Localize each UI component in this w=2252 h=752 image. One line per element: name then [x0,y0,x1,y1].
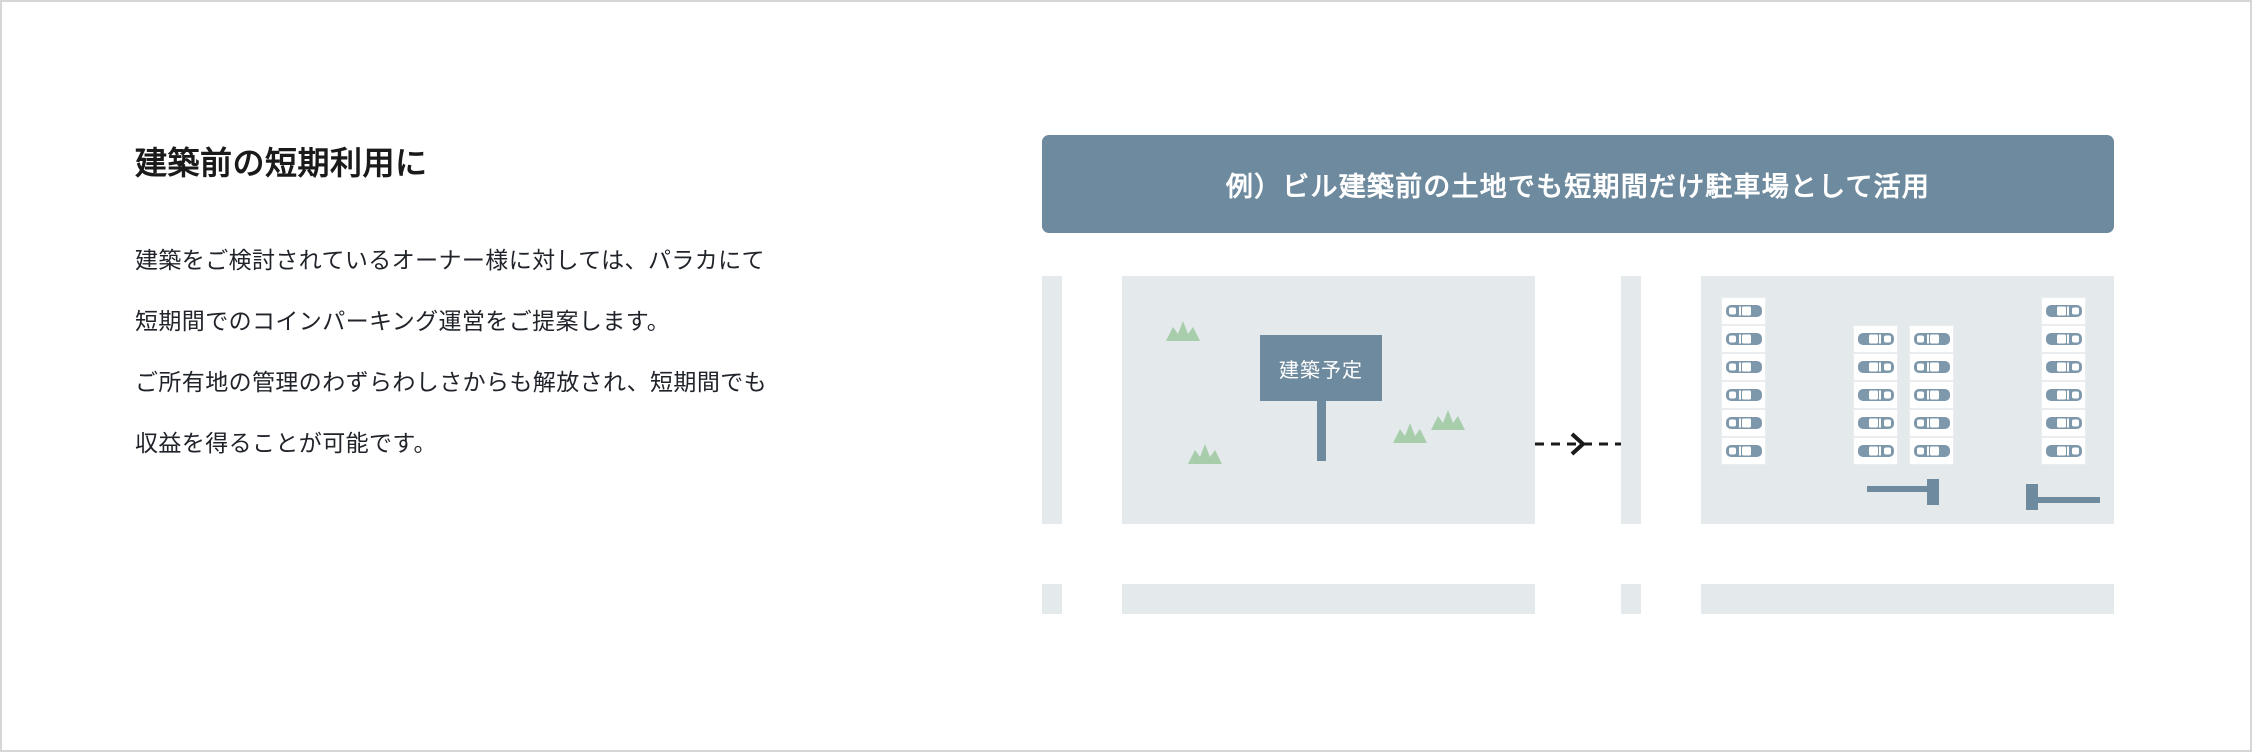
vacant-plot: 建築予定 [1122,276,1535,524]
stall-column [1909,325,1954,465]
page-title: 建築前の短期利用に [135,144,975,182]
parking-lot-plot [1701,276,2114,524]
parking-stall[interactable] [2041,353,2086,381]
gate-arm [2038,497,2100,503]
car-top-view-icon [1857,357,1895,377]
paragraph-line: 建築をご検討されているオーナー様に対しては、パラカにて [135,230,975,291]
car-top-view-icon [1857,441,1895,461]
parking-stall[interactable] [1853,381,1898,409]
parking-stall[interactable] [1721,325,1766,353]
gate-barrier-icon [1867,479,1947,505]
car-top-view-icon [1913,413,1951,433]
parking-stall[interactable] [1853,325,1898,353]
car-top-view-icon [1857,413,1895,433]
car-top-view-icon [1857,385,1895,405]
parking-stall[interactable] [1909,381,1954,409]
gate-post [1927,479,1939,505]
signboard-label: 建築予定 [1279,354,1363,383]
gate-post [2026,484,2038,510]
parking-stall[interactable] [1721,353,1766,381]
car-top-view-icon [1725,357,1763,377]
scene-after-parking-lot [1621,276,2114,614]
car-top-view-icon [2045,301,2083,321]
parking-stall[interactable] [2041,381,2086,409]
parking-stall[interactable] [1721,381,1766,409]
car-top-view-icon [1725,385,1763,405]
road-horizontal [1042,524,1535,584]
car-top-view-icon [1857,329,1895,349]
parking-stall[interactable] [1909,325,1954,353]
stall-column [1721,297,1766,465]
car-top-view-icon [1913,385,1951,405]
dashed-arrow-right-icon [1535,431,1621,457]
parking-stall[interactable] [1721,437,1766,465]
car-top-view-icon [1725,441,1763,461]
car-top-view-icon [2045,413,2083,433]
parking-stall[interactable] [1853,353,1898,381]
car-top-view-icon [1913,441,1951,461]
shrub-icon [1391,422,1429,444]
parking-stall[interactable] [2041,325,2086,353]
car-top-view-icon [1725,301,1763,321]
stall-column [1853,325,1898,465]
text-column: 建築前の短期利用に 建築をご検討されているオーナー様に対しては、パラカにて 短期… [135,144,975,474]
paragraph-line: ご所有地の管理のわずらわしさからも解放され、短期間でも [135,352,975,413]
parking-stall[interactable] [1721,297,1766,325]
signboard-icon: 建築予定 [1260,335,1382,401]
shrub-icon [1186,443,1224,465]
example-banner: 例）ビル建築前の土地でも短期間だけ駐車場として活用 [1042,135,2114,233]
gate-arm [1867,486,1929,492]
paragraph-line: 短期間でのコインパーキング運営をご提案します。 [135,291,975,352]
parking-stall[interactable] [2041,409,2086,437]
visual-column: 例）ビル建築前の土地でも短期間だけ駐車場として活用 [1042,135,2114,614]
parking-stall[interactable] [2041,437,2086,465]
car-top-view-icon [2045,357,2083,377]
car-top-view-icon [1725,329,1763,349]
car-top-view-icon [1725,413,1763,433]
car-top-view-icon [2045,385,2083,405]
stall-column [2041,297,2086,465]
scene-before-construction: 建築予定 [1042,276,1535,614]
sign-post-icon [1317,401,1326,461]
parking-stall[interactable] [1909,437,1954,465]
shrub-icon [1164,320,1202,342]
car-top-view-icon [1913,357,1951,377]
example-banner-label: 例）ビル建築前の土地でも短期間だけ駐車場として活用 [1226,165,1930,204]
paragraph-line: 収益を得ることが可能です。 [135,413,975,474]
before-after-diagram: 建築予定 [1042,276,2114,614]
parking-stall[interactable] [1909,353,1954,381]
parking-stall[interactable] [1909,409,1954,437]
page-root: 建築前の短期利用に 建築をご検討されているオーナー様に対しては、パラカにて 短期… [0,0,2252,752]
car-top-view-icon [2045,329,2083,349]
body-paragraph: 建築をご検討されているオーナー様に対しては、パラカにて 短期間でのコインパーキン… [135,230,975,474]
parking-stall[interactable] [1853,437,1898,465]
car-top-view-icon [2045,441,2083,461]
parking-stall[interactable] [2041,297,2086,325]
shrub-icon [1429,409,1467,431]
car-top-view-icon [1913,329,1951,349]
gate-barrier-icon [2026,484,2106,510]
parking-stall[interactable] [1853,409,1898,437]
road-horizontal [1621,524,2114,584]
parking-stall[interactable] [1721,409,1766,437]
